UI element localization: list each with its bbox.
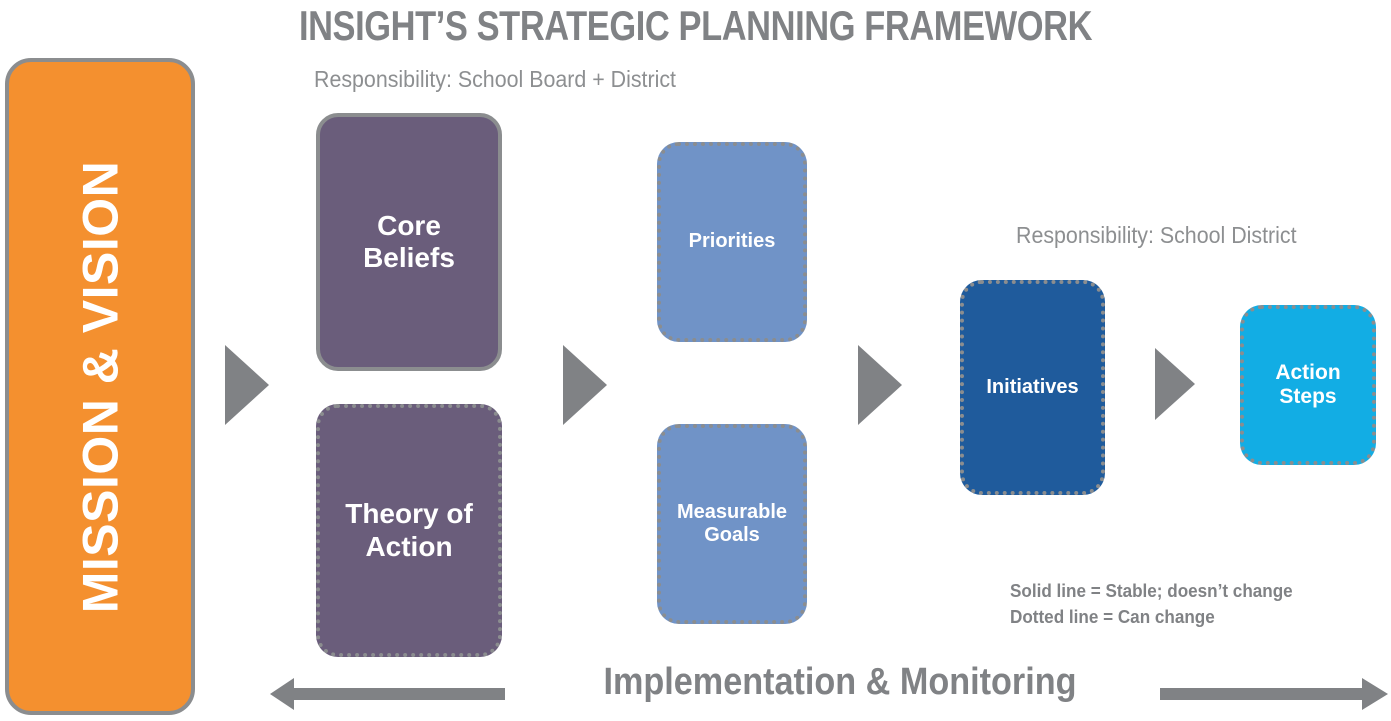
implementation-monitoring-label: Implementation & Monitoring bbox=[543, 661, 1137, 704]
arrow-right-shaft bbox=[1160, 688, 1362, 700]
stage-label-initiatives: Initiatives bbox=[986, 376, 1078, 399]
responsibility-label-left: Responsibility: School Board + District bbox=[314, 66, 676, 93]
chevron-right-icon bbox=[1155, 348, 1195, 420]
stage-label-theory-of-action: Theory ofAction bbox=[345, 498, 473, 563]
arrow-left-shaft bbox=[292, 688, 505, 700]
stage-box-measurable-goals: MeasurableGoals bbox=[657, 424, 807, 624]
legend-line-solid: Solid line = Stable; doesn’t change bbox=[1010, 579, 1293, 605]
stage-box-initiatives: Initiatives bbox=[960, 280, 1105, 495]
mission-vision-panel: MISSION & VISION bbox=[5, 58, 195, 715]
chevron-right-icon bbox=[225, 345, 269, 425]
page-title: INSIGHT’S STRATEGIC PLANNING FRAMEWORK bbox=[125, 2, 1266, 50]
stage-box-priorities: Priorities bbox=[657, 142, 807, 342]
arrow-right-icon bbox=[1362, 678, 1388, 710]
mission-vision-label: MISSION & VISION bbox=[71, 160, 129, 613]
chevron-right-icon bbox=[563, 345, 607, 425]
chevron-right-icon bbox=[858, 345, 902, 425]
stage-label-priorities: Priorities bbox=[689, 230, 776, 253]
strategic-planning-framework-diagram: INSIGHT’S STRATEGIC PLANNING FRAMEWORK R… bbox=[0, 0, 1391, 721]
responsibility-label-right: Responsibility: School District bbox=[1016, 222, 1297, 249]
legend-line-dotted: Dotted line = Can change bbox=[1010, 605, 1293, 631]
stage-box-action-steps: ActionSteps bbox=[1240, 305, 1376, 465]
arrow-left-icon bbox=[270, 678, 294, 710]
line-style-legend: Solid line = Stable; doesn’t change Dott… bbox=[1010, 579, 1293, 630]
stage-label-measurable-goals: MeasurableGoals bbox=[677, 501, 787, 547]
stage-box-core-beliefs: CoreBeliefs bbox=[316, 113, 502, 371]
stage-label-action-steps: ActionSteps bbox=[1275, 361, 1340, 410]
stage-label-core-beliefs: CoreBeliefs bbox=[363, 210, 455, 275]
stage-box-theory-of-action: Theory ofAction bbox=[316, 404, 502, 657]
